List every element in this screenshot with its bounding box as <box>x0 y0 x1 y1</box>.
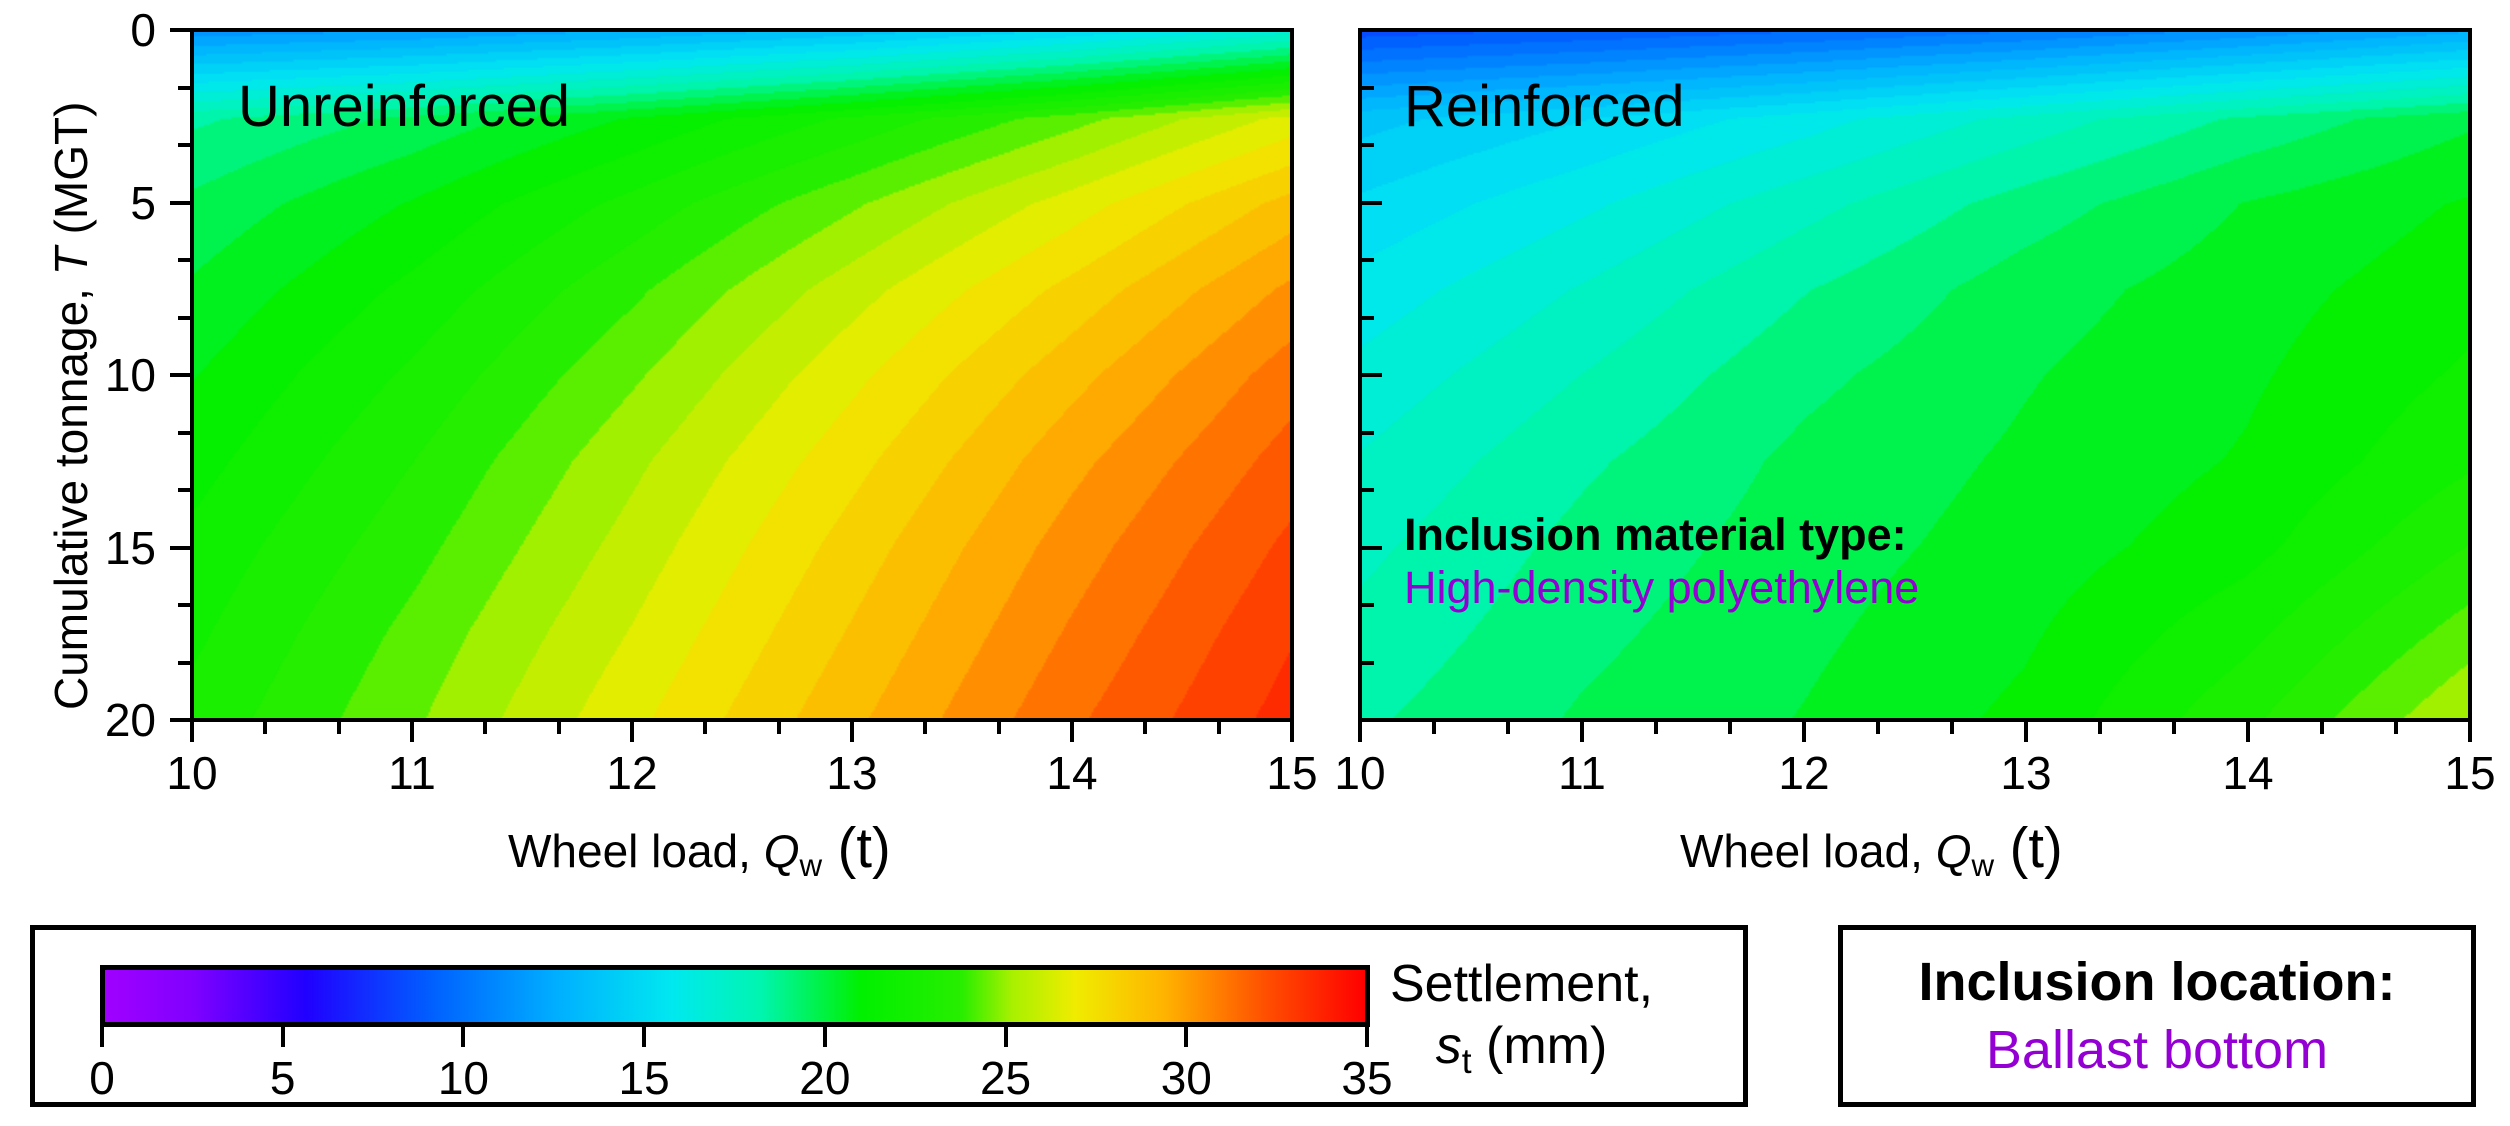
plot-panel-reinforced[interactable] <box>1358 28 2472 722</box>
y-minor-tick <box>178 488 190 492</box>
x-major-tick <box>1802 722 1806 742</box>
y-minor-tick-inner <box>1362 603 1374 607</box>
figure-root: Unreinforced Reinforced Inclusion materi… <box>0 0 2510 1126</box>
y-major-tick-inner <box>1362 718 1382 722</box>
x-major-tick <box>2024 722 2028 742</box>
x-axis-title-symbol: Q <box>764 825 800 877</box>
y-tick-label: 20 <box>105 693 156 747</box>
inclusion-location-value: Ballast bottom <box>1986 1019 2328 1081</box>
x-major-tick <box>1358 722 1362 742</box>
colorbar-tick-label: 15 <box>619 1051 670 1105</box>
x-axis-title-unit-2: (t) <box>1994 816 2063 879</box>
y-minor-tick-inner <box>1362 431 1374 435</box>
x-minor-tick <box>997 722 1001 734</box>
x-axis-title-lead: Wheel load, <box>508 825 764 877</box>
colorbar[interactable] <box>100 965 1370 1027</box>
x-minor-tick <box>2394 722 2398 734</box>
colorbar-tick-label: 20 <box>799 1051 850 1105</box>
inclusion-location-box: Inclusion location: Ballast bottom <box>1838 925 2476 1107</box>
colorbar-label-line1: Settlement, <box>1390 955 1653 1013</box>
x-minor-tick <box>557 722 561 734</box>
x-axis-title-lead-2: Wheel load, <box>1680 825 1936 877</box>
colorbar-tick-label: 10 <box>438 1051 489 1105</box>
colorbar-tick-label: 35 <box>1341 1051 1392 1105</box>
x-minor-tick <box>483 722 487 734</box>
x-minor-tick <box>1950 722 1954 734</box>
x-minor-tick <box>703 722 707 734</box>
x-minor-tick <box>1728 722 1732 734</box>
x-major-tick <box>2468 722 2472 742</box>
x-minor-tick <box>263 722 267 734</box>
x-axis-title-unit: (t) <box>822 816 891 879</box>
y-major-tick-inner <box>1362 28 1382 32</box>
colorbar-unit: (mm) <box>1472 1017 1608 1075</box>
colorbar-label: Settlement, st (mm) <box>1390 955 1653 1082</box>
x-axis-title-sub-2: w <box>1971 848 1994 883</box>
y-tick-label: 0 <box>130 3 156 57</box>
y-major-tick <box>170 201 190 205</box>
y-minor-tick <box>178 143 190 147</box>
x-minor-tick <box>337 722 341 734</box>
y-minor-tick <box>178 316 190 320</box>
colorbar-gradient <box>105 970 1365 1022</box>
colorbar-tick <box>1184 1027 1188 1047</box>
x-minor-tick <box>1876 722 1880 734</box>
colorbar-symbol: s <box>1436 1017 1462 1075</box>
y-minor-tick-inner <box>1362 661 1374 665</box>
heatmap-canvas-reinforced <box>1362 32 2468 718</box>
colorbar-tick <box>823 1027 827 1047</box>
y-major-tick-inner <box>1362 546 1382 550</box>
y-major-tick <box>170 373 190 377</box>
y-major-tick-inner <box>1362 201 1382 205</box>
x-tick-label: 15 <box>2444 746 2495 800</box>
x-minor-tick <box>1506 722 1510 734</box>
y-minor-tick <box>178 258 190 262</box>
y-axis-title: Cumulative tonnage, T (MGT) <box>44 102 98 710</box>
colorbar-tick <box>1365 1027 1369 1047</box>
y-minor-tick-inner <box>1362 258 1374 262</box>
colorbar-tick <box>642 1027 646 1047</box>
x-major-tick <box>1580 722 1584 742</box>
x-major-tick <box>1070 722 1074 742</box>
y-minor-tick-inner <box>1362 488 1374 492</box>
x-axis-title-right: Wheel load, Qw (t) <box>1680 815 2063 884</box>
colorbar-tick-label: 5 <box>270 1051 296 1105</box>
x-major-tick <box>1290 722 1294 742</box>
x-major-tick <box>410 722 414 742</box>
y-axis-title-symbol: T <box>45 247 97 275</box>
y-minor-tick-inner <box>1362 143 1374 147</box>
x-minor-tick <box>1654 722 1658 734</box>
x-major-tick <box>850 722 854 742</box>
y-tick-label: 5 <box>130 176 156 230</box>
colorbar-label-line2: st (mm) <box>1390 1017 1653 1081</box>
x-tick-label: 14 <box>2222 746 2273 800</box>
x-tick-label: 12 <box>606 746 657 800</box>
x-tick-label: 15 <box>1266 746 1317 800</box>
x-minor-tick <box>2320 722 2324 734</box>
y-axis-title-unit: (MGT) <box>45 102 97 248</box>
y-major-tick <box>170 718 190 722</box>
y-major-tick-inner <box>1362 373 1382 377</box>
colorbar-symbol-sub: t <box>1462 1042 1472 1081</box>
y-minor-tick <box>178 661 190 665</box>
x-tick-label: 13 <box>826 746 877 800</box>
x-tick-label: 13 <box>2000 746 2051 800</box>
colorbar-tick-label: 25 <box>980 1051 1031 1105</box>
x-major-tick <box>190 722 194 742</box>
x-minor-tick <box>923 722 927 734</box>
x-minor-tick <box>777 722 781 734</box>
y-minor-tick-inner <box>1362 316 1374 320</box>
y-minor-tick <box>178 86 190 90</box>
x-minor-tick <box>2172 722 2176 734</box>
x-tick-label: 10 <box>166 746 217 800</box>
colorbar-tick <box>281 1027 285 1047</box>
x-minor-tick <box>1217 722 1221 734</box>
x-minor-tick <box>2098 722 2102 734</box>
colorbar-tick-label: 0 <box>89 1051 115 1105</box>
colorbar-tick <box>1004 1027 1008 1047</box>
x-axis-title-left: Wheel load, Qw (t) <box>508 815 891 884</box>
plot-panel-unreinforced[interactable] <box>190 28 1294 722</box>
colorbar-tick <box>461 1027 465 1047</box>
colorbar-tick <box>100 1027 104 1047</box>
x-tick-label: 14 <box>1046 746 1097 800</box>
x-minor-tick <box>1432 722 1436 734</box>
heatmap-canvas-unreinforced <box>194 32 1290 718</box>
x-axis-title-sub: w <box>799 848 822 883</box>
x-major-tick <box>2246 722 2250 742</box>
colorbar-tick-label: 30 <box>1161 1051 1212 1105</box>
y-tick-label: 10 <box>105 348 156 402</box>
y-major-tick <box>170 546 190 550</box>
y-minor-tick <box>178 431 190 435</box>
x-tick-label: 10 <box>1334 746 1385 800</box>
x-tick-label: 11 <box>388 746 436 800</box>
x-major-tick <box>630 722 634 742</box>
inclusion-location-label: Inclusion location: <box>1918 951 2395 1013</box>
x-tick-label: 11 <box>1558 746 1606 800</box>
x-tick-label: 12 <box>1778 746 1829 800</box>
y-major-tick <box>170 28 190 32</box>
x-axis-title-symbol-2: Q <box>1936 825 1972 877</box>
x-minor-tick <box>1143 722 1147 734</box>
y-axis-title-lead: Cumulative tonnage, <box>45 275 97 710</box>
y-minor-tick-inner <box>1362 86 1374 90</box>
y-minor-tick <box>178 603 190 607</box>
y-tick-label: 15 <box>105 521 156 575</box>
